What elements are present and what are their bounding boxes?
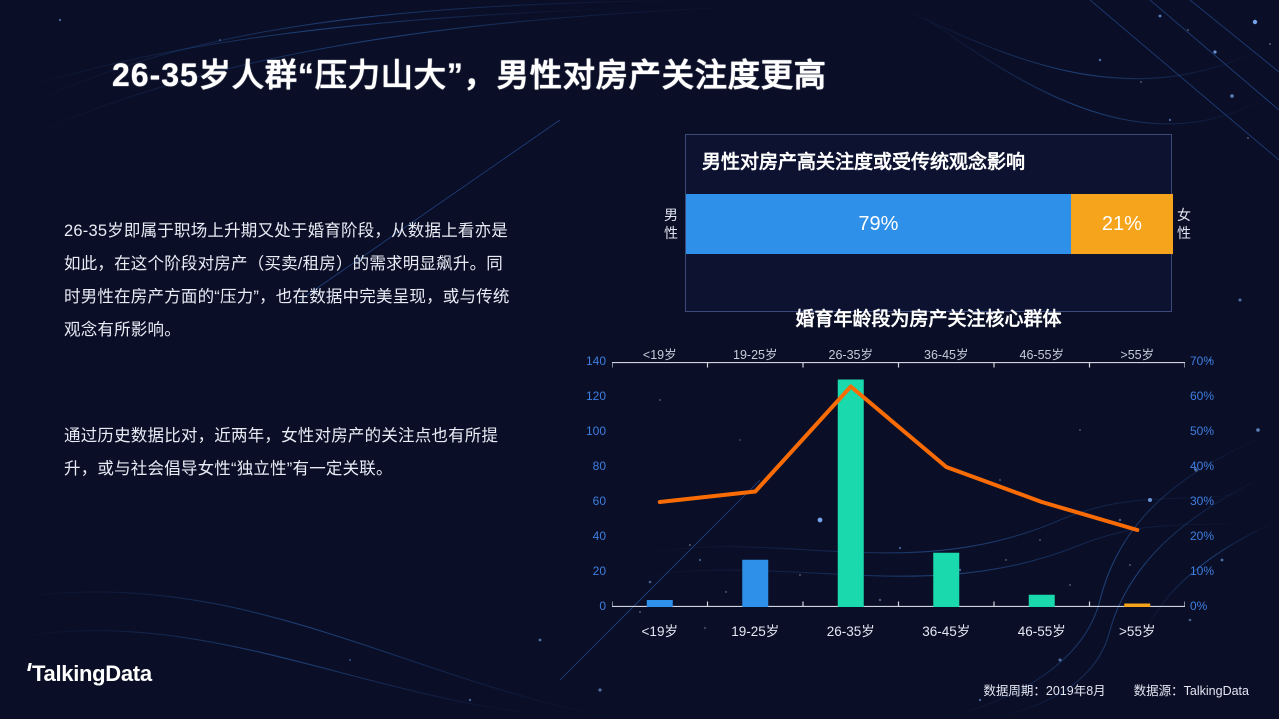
right-axis-tick: 50% (1190, 424, 1230, 438)
right-axis-tick: 0% (1190, 599, 1230, 613)
age-chart-top-axis: <19岁 19-25岁 26-35岁 36-45岁 46-55岁 >55岁 (612, 344, 1185, 363)
left-axis-tick: 0 (572, 599, 606, 613)
gender-stacked-bar: 79% 21% (686, 194, 1173, 254)
top-axis-label: <19岁 (612, 344, 708, 363)
left-axis-tick: 120 (572, 389, 606, 403)
footer-data-source: 数据源：TalkingData (1134, 680, 1249, 699)
age-bar (1124, 604, 1150, 608)
gender-panel-title: 男性对房产高关注度或受传统观念影响 (702, 147, 1025, 174)
gender-label-female: 女性 (1174, 206, 1194, 242)
right-axis-tick: 40% (1190, 459, 1230, 473)
age-chart-title: 婚育年龄段为房产关注核心群体 (685, 304, 1172, 331)
right-axis-tick: 60% (1190, 389, 1230, 403)
top-axis-label: 46-55岁 (994, 344, 1090, 363)
top-axis-label: 36-45岁 (899, 344, 995, 363)
left-axis-tick: 60 (572, 494, 606, 508)
gender-label-male: 男性 (661, 206, 681, 242)
gender-panel: 男性对房产高关注度或受传统观念影响 79% 21% (685, 134, 1172, 312)
age-bar (1029, 595, 1055, 607)
page-title: 26-35岁人群“压力山大”，男性对房产关注度更高 (112, 50, 827, 96)
top-axis-label: 26-35岁 (803, 344, 899, 363)
left-axis-tick: 40 (572, 529, 606, 543)
left-axis-tick: 100 (572, 424, 606, 438)
right-axis-tick: 70% (1190, 354, 1230, 368)
right-axis-tick: 10% (1190, 564, 1230, 578)
right-axis-tick: 20% (1190, 529, 1230, 543)
age-bar (933, 553, 959, 607)
age-chart-plot (612, 362, 1185, 607)
bottom-axis-label: 19-25岁 (708, 620, 804, 640)
footer-meta: 数据周期：2019年8月 数据源：TalkingData (983, 680, 1249, 699)
age-chart-bottom-axis: <19岁 19-25岁 26-35岁 36-45岁 46-55岁 >55岁 (612, 620, 1185, 640)
bottom-axis-label: <19岁 (612, 620, 708, 640)
body-paragraph-1: 26-35岁即属于职场上升期又处于婚育阶段，从数据上看亦是如此，在这个阶段对房产… (64, 215, 514, 347)
talkingdata-logo: TalkingData (28, 661, 152, 687)
left-axis-tick: 80 (572, 459, 606, 473)
bottom-axis-label: 46-55岁 (994, 620, 1090, 640)
gender-bar-segment-female: 21% (1071, 194, 1173, 254)
body-paragraph-2: 通过历史数据比对，近两年，女性对房产的关注点也有所提升，或与社会倡导女性“独立性… (64, 420, 514, 486)
gender-bar-segment-male: 79% (686, 194, 1071, 254)
top-axis-label: >55岁 (1090, 344, 1186, 363)
age-bar (647, 600, 673, 607)
age-bar (742, 560, 768, 607)
footer-data-period: 数据周期：2019年8月 (983, 680, 1105, 699)
bottom-axis-label: 36-45岁 (899, 620, 995, 640)
top-axis-label: 19-25岁 (708, 344, 804, 363)
age-trend-line (660, 387, 1138, 531)
right-axis-tick: 30% (1190, 494, 1230, 508)
left-axis-tick: 140 (572, 354, 606, 368)
bottom-axis-label: 26-35岁 (803, 620, 899, 640)
bottom-axis-label: >55岁 (1090, 620, 1186, 640)
age-bar (838, 380, 864, 608)
logo-text: TalkingData (32, 661, 152, 686)
left-axis-tick: 20 (572, 564, 606, 578)
